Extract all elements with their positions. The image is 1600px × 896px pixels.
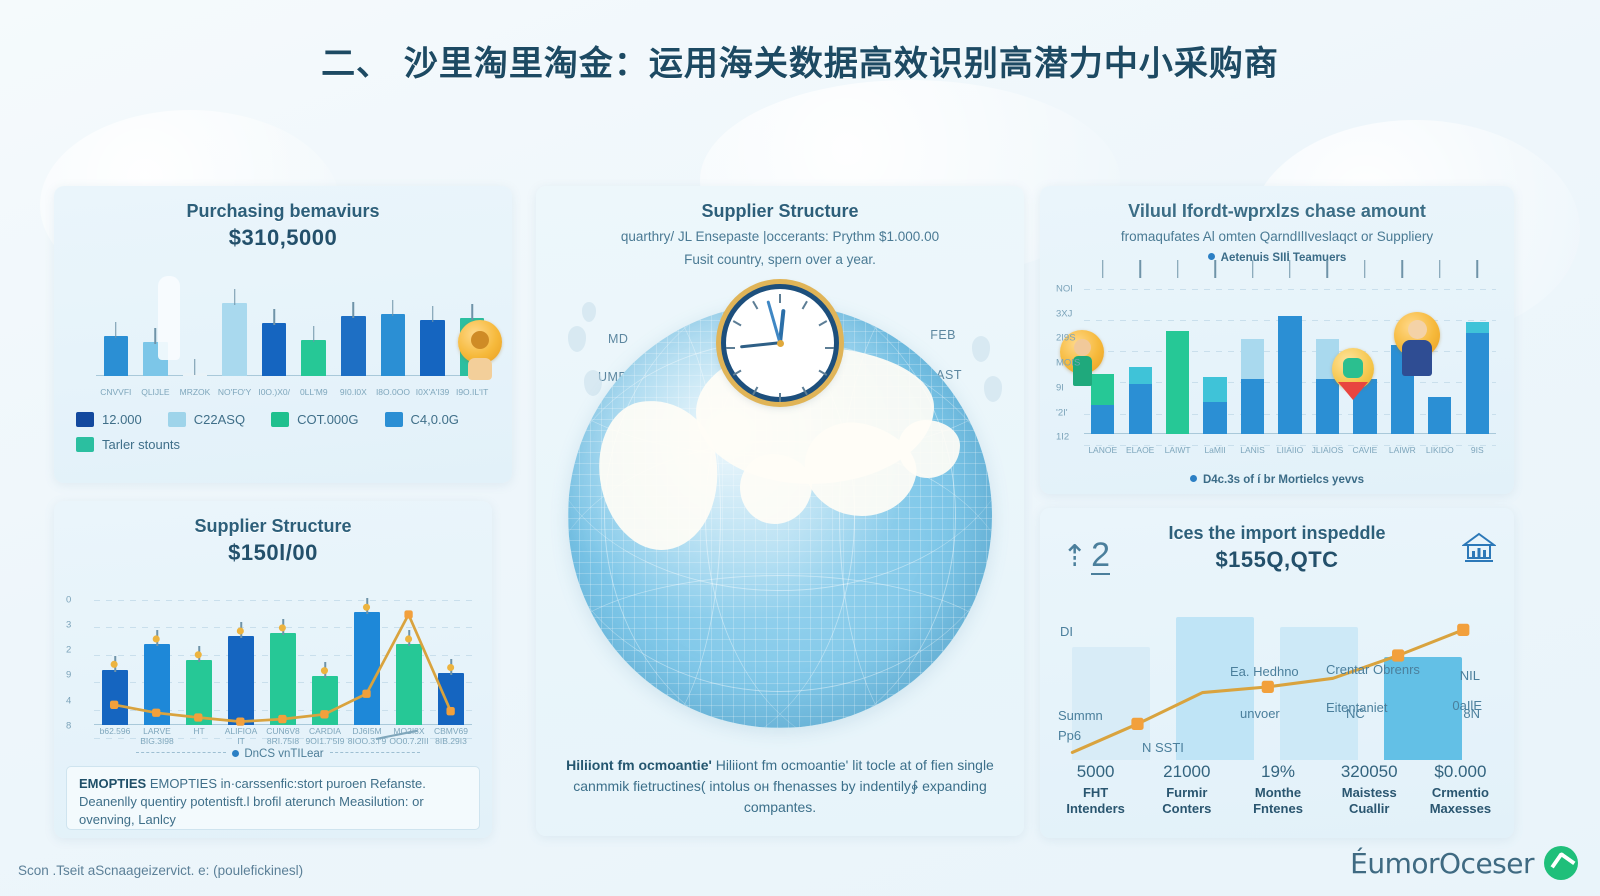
clock-tick: [726, 347, 735, 349]
chart-x-note: DnCS vnTILear: [80, 748, 476, 760]
label-crentar: Crentar Obrenrs: [1326, 662, 1420, 678]
x-tick-label: LAIWT: [1159, 446, 1196, 456]
chart-bar-column: [254, 280, 294, 376]
error-bar: [240, 622, 242, 638]
y-tick-label: 4: [66, 695, 71, 706]
y-tick-label: 8: [66, 720, 71, 731]
legend-item: Tarler stounts: [76, 437, 180, 452]
chart-bar: [420, 320, 445, 376]
clock-tick: [825, 347, 834, 349]
chart-bar-column: [304, 589, 346, 725]
y-tick-label: 3XJ: [1056, 308, 1072, 319]
callout-lead: EMOPTIES: [79, 776, 146, 791]
chart-stacked-bar: [1166, 276, 1189, 434]
x-tick-label: I0O.)X0/: [254, 388, 294, 398]
x-tick-label: I9O.IL'IT: [452, 388, 492, 398]
chart-stacked-bar: [1466, 276, 1489, 434]
kpi-value: 320050: [1324, 762, 1415, 782]
clock-tick: [818, 320, 827, 326]
x-tick-label: LANIS: [1234, 446, 1271, 456]
chart-bar: [186, 660, 212, 725]
chart-bar-column: [1196, 276, 1233, 434]
brand-wordmark: ÉumorOceser: [1350, 847, 1534, 880]
label-nil: NIL: [1460, 668, 1480, 684]
chart-bar: [222, 303, 247, 376]
legend-item: C4,0.0G: [385, 412, 459, 427]
kpi-stat: 320050MaistessCuallir: [1324, 762, 1415, 832]
legend-swatch: [76, 412, 94, 427]
panel-purchasing-behaviours[interactable]: Purchasing bemaviurs $310,5000 CNVVFIQLI…: [54, 186, 512, 483]
panel-bl-amount: $150l/00: [54, 540, 492, 566]
chart-bar-column: [413, 280, 453, 376]
legend-label: C22ASQ: [194, 412, 245, 427]
clock-tick: [802, 301, 808, 310]
legend-swatch: [271, 412, 289, 427]
clock-second-hand: [740, 342, 780, 349]
chart-bar-column: [175, 280, 215, 376]
chart-bar-segment: [1203, 377, 1226, 403]
chart-bar-segment: [1203, 402, 1226, 434]
panel-chase-amount[interactable]: Viluul Ifordt-wprxlzs chase amount froma…: [1040, 186, 1514, 494]
panel-tl-title: Purchasing bemaviurs: [54, 186, 512, 223]
coin-person-sticker: [456, 320, 504, 386]
chart-legend-bottom: D4c.3s of í br Mortielcs yevvs: [1040, 474, 1514, 486]
legend-item: COT.000G: [271, 412, 358, 427]
kpi-value: 5000: [1050, 762, 1141, 782]
page-title: 二、 沙里淘里淘金：运用海关数据高效识别高潜力中小采购商: [0, 36, 1600, 85]
chart-legend-top: Aetenuis SIIÍ Teamuers: [1040, 252, 1514, 264]
caption-lead: Hiliiont fm ocmoantie': [566, 757, 712, 773]
y-tick-label: 9: [66, 670, 71, 681]
chart-bar-column: [94, 589, 136, 725]
kpi-value: $0.000: [1415, 762, 1506, 782]
error-bar: [324, 662, 326, 678]
panel-tr-title: Viluul Ifordt-wprxlzs chase amount: [1040, 186, 1514, 223]
kpi-label: FurmirConters: [1141, 785, 1232, 817]
legend-swatch: [385, 412, 403, 427]
x-tick-label: 0LL'M9: [294, 388, 334, 398]
panel-bl-title: Supplier Structure: [54, 501, 492, 538]
error-bar: [450, 659, 452, 675]
label-summn: Summn: [1058, 708, 1103, 724]
panel-center-title: Supplier Structure: [536, 186, 1024, 223]
clock-tick: [802, 386, 808, 395]
legend-label: C4,0.0G: [411, 412, 459, 427]
kpi-label: CrmentioMaxesses: [1415, 785, 1506, 817]
chart-bars: [96, 280, 492, 376]
chart-bar-column: [388, 589, 430, 725]
chart-stacked-bar: [1241, 276, 1264, 434]
chart-bar: [104, 336, 129, 376]
kpi-stat: 21000FurmirConters: [1141, 762, 1232, 832]
brand-logo: ÉumorOceser: [1350, 846, 1578, 880]
legend-swatch: [168, 412, 186, 427]
label-di: DI: [1060, 624, 1073, 640]
arrow-up-icon: ⇡: [1062, 542, 1087, 572]
clock-tick: [733, 320, 742, 326]
chart-bar-column: [178, 589, 220, 725]
clock-tick: [779, 294, 781, 303]
y-tick-label: '2I': [1056, 407, 1068, 418]
y-tick-label: 9I: [1056, 382, 1064, 393]
error-bar: [353, 302, 355, 318]
chart-inline-labels: DI Summn Pp6 N SSTI Ea. Hedhno unvoer Cr…: [1054, 594, 1502, 760]
error-bar: [313, 326, 315, 342]
chart-bar-segment: [1091, 405, 1114, 434]
x-tick-label: b62.596: [94, 727, 136, 747]
chart-bar: [341, 316, 366, 376]
x-tick-label: CUN6V8 8RI.75I8: [262, 727, 304, 747]
x-tick-label: LaMII: [1196, 446, 1233, 456]
error-bar: [114, 656, 116, 672]
chart-bar: [354, 612, 380, 725]
x-tick-label: CBMV69 8IB.29I3: [430, 727, 472, 747]
x-tick-label: LAIWR: [1384, 446, 1421, 456]
x-tick-label: ELAOE: [1121, 446, 1158, 456]
panel-center-subtitle-1: quarthry/ JL Ensepaste |occerants: Pryth…: [536, 223, 1024, 247]
y-tick-label: 2I9S: [1056, 333, 1076, 344]
chart-bar-column: [1271, 276, 1308, 434]
label-unvoer: unvoer: [1240, 706, 1280, 722]
chart-bar-column: [1234, 276, 1271, 434]
label-ea-hedhno: Ea. Hedhno: [1230, 664, 1299, 680]
error-bar: [1289, 260, 1291, 278]
error-bar: [194, 359, 196, 375]
x-tick-label: JLIAIOS: [1309, 446, 1346, 456]
y-tick-label: NOI: [1056, 284, 1073, 295]
chart-bar-column: [294, 280, 334, 376]
chart-bar-column: [430, 589, 472, 725]
legend-label: 12.000: [102, 412, 142, 427]
error-bar: [1327, 260, 1329, 278]
panel-tr-subtitle: fromaqufates Al omten QarndIlIveslaqct o…: [1040, 223, 1514, 247]
label-nc: NC: [1346, 706, 1365, 722]
kpi-stat: $0.000CrmentioMaxesses: [1415, 762, 1506, 832]
panel-board: Purchasing bemaviurs $310,5000 CNVVFIQLI…: [54, 186, 1514, 838]
chart-supplier-structure: b62.596LARVE BIG.3I98HTALIFIOA ITCUN6V8 …: [64, 583, 480, 751]
chart-bar: [102, 670, 128, 725]
error-bar: [1177, 260, 1179, 278]
growth-indicator: ⇡ 2: [1062, 538, 1110, 575]
coin-person-sticker: [1392, 312, 1442, 384]
x-tick-label: MO2I8X OO0.7.2III: [388, 727, 430, 747]
error-bar: [198, 646, 200, 662]
error-bar: [156, 630, 158, 646]
chart-bar-column: [346, 589, 388, 725]
chart-bar: [396, 644, 422, 725]
x-tick-label: CARDIA 9OI1.7'5I9: [304, 727, 346, 747]
legend-swatch: [76, 437, 94, 452]
error-bar: [1477, 260, 1479, 278]
footer-source-note: Scon .Tseit aScnaageizervict. e: (poulef…: [18, 863, 303, 878]
x-tick-label: DJ6I5M 8IOO.3.I'9: [346, 727, 388, 747]
y-tick-label: 1I2: [1056, 432, 1069, 443]
chart-chase-amount: LANOEELAOELAIWTLaMIILANISLIIAIIOJLIAIOSC…: [1054, 270, 1504, 460]
error-bar: [1439, 260, 1441, 278]
chart-bar-column: [262, 589, 304, 725]
chart-bar: [381, 314, 406, 376]
kpi-stat: 5000FHTIntenders: [1050, 762, 1141, 832]
error-bar: [471, 304, 473, 320]
ghost-figurine-sticker: [158, 276, 180, 360]
kpi-value: 21000: [1141, 762, 1232, 782]
y-tick-label: 2: [66, 645, 71, 656]
chart-bar-segment: [1466, 322, 1489, 333]
legend-label: COT.000G: [297, 412, 358, 427]
panel-center-caption: Hiliiont fm ocmoantie' Hiliiont fm ocmoa…: [562, 755, 998, 818]
chart-import-speed: DI Summn Pp6 N SSTI Ea. Hedhno unvoer Cr…: [1054, 594, 1502, 760]
error-bar: [273, 309, 275, 325]
x-tick-label: I8O.0OO: [373, 388, 413, 398]
chart-bar-column: [1121, 276, 1158, 434]
clock-tick: [752, 301, 758, 310]
legend-dot-icon: [232, 750, 239, 757]
x-tick-label: I0X'A'I39: [413, 388, 453, 398]
chart-purchasing-behaviours: CNVVFIQLIJLEMRZOKNO'FO'YI0O.)X0/0LL'M99I…: [66, 274, 500, 402]
chart-bar-column: [136, 589, 178, 725]
chart-stacked-bar: [1278, 276, 1301, 434]
legend-dot-icon: [1208, 253, 1215, 260]
y-tick-label: 0: [66, 594, 71, 605]
panel-tl-amount: $310,5000: [54, 225, 512, 251]
kpi-label: FHTIntenders: [1050, 785, 1141, 817]
error-bar: [1364, 260, 1366, 278]
panel-center-subtitle-2: Fusit country, spern over a year.: [536, 246, 1024, 270]
error-bar: [115, 322, 117, 338]
chart-bar-segment: [1129, 384, 1152, 434]
chart-bar-segment: [1278, 316, 1301, 434]
x-tick-label: LANOE: [1084, 446, 1121, 456]
chart-bar-column: [215, 280, 255, 376]
chart-bar-column: [1459, 276, 1496, 434]
error-bar: [366, 598, 368, 614]
error-bar: [1139, 260, 1141, 278]
panel-supplier-structure-bars[interactable]: Supplier Structure $150l/00 b62.596LARVE…: [54, 501, 492, 838]
chart-bar-segment: [1166, 331, 1189, 434]
chart-bar-column: [334, 280, 374, 376]
chart-bar-column: [96, 280, 136, 376]
chart-stacked-bar: [1129, 276, 1152, 434]
label-pp6: Pp6: [1058, 728, 1081, 744]
house-chart-icon: [1462, 532, 1496, 562]
chart-bar-column: [220, 589, 262, 725]
label-8n: 8N: [1463, 706, 1480, 722]
chart-x-tick-labels: CNVVFIQLIJLEMRZOKNO'FO'YI0O.)X0/0LL'M99I…: [96, 388, 492, 398]
legend-item: C22ASQ: [168, 412, 245, 427]
chart-bar-segment: [1428, 397, 1451, 434]
clock-tick: [779, 393, 781, 402]
chart-bar-column: [1159, 276, 1196, 434]
kpi-label: MontheFntenes: [1232, 785, 1323, 817]
kpi-stat-row: 5000FHTIntenders21000FurmirConters19%Mon…: [1050, 762, 1506, 832]
y-tick-label: MOIS: [1056, 358, 1080, 369]
chart-x-tick-labels: LANOEELAOELAIWTLaMIILANISLIIAIIOJLIAIOSC…: [1084, 446, 1496, 456]
brand-mark-icon: [1544, 846, 1578, 880]
chart-bar-segment: [1241, 379, 1264, 434]
shield-badge-sticker: [1332, 348, 1376, 406]
chart-bar-segment: [1129, 367, 1152, 384]
growth-number: 2: [1091, 538, 1110, 575]
chart-bar: [262, 323, 287, 376]
error-bar: [282, 619, 284, 635]
clock-tick: [733, 370, 742, 376]
error-bar: [1402, 260, 1404, 278]
chart-x-tick-labels: b62.596LARVE BIG.3I98HTALIFIOA ITCUN6V8 …: [94, 727, 472, 747]
x-tick-label: LIKIDO: [1421, 446, 1458, 456]
y-tick-label: 3: [66, 620, 71, 631]
kpi-label: MaistessCuallir: [1324, 785, 1415, 817]
x-tick-label: LIIAIIO: [1271, 446, 1308, 456]
legend-dot-icon: [1190, 475, 1197, 482]
chart-bar: [301, 340, 326, 376]
x-tick-label: 9IS: [1459, 446, 1496, 456]
chart-bar: [270, 633, 296, 725]
chart-stacked-bar: [1203, 276, 1226, 434]
chart-bar: [228, 636, 254, 725]
kpi-stat: 19%MontheFntenes: [1232, 762, 1323, 832]
chart-bar-column: [373, 280, 413, 376]
clock-tick: [752, 386, 758, 395]
error-bar: [1214, 260, 1216, 278]
legend-item: 12.000: [76, 412, 142, 427]
error-bar: [155, 328, 157, 344]
x-tick-label: 9I0.I0X: [334, 388, 374, 398]
globe-visualization: MD UMPS FEB CAST: [536, 296, 1024, 726]
chart-bar: [438, 673, 464, 725]
chart-bars: [94, 589, 472, 725]
x-tick-label: NO'FO'Y: [215, 388, 255, 398]
label-n-ssti: N SSTI: [1142, 740, 1184, 756]
x-tick-label: HT: [178, 727, 220, 747]
chart-bar-segment: [1466, 333, 1489, 434]
chart-bar: [312, 676, 338, 725]
x-tick-label: CNVVFI: [96, 388, 136, 398]
chart-bar: [144, 644, 170, 725]
clock-center-pin: [777, 340, 784, 347]
error-bar: [408, 630, 410, 646]
x-tick-label: LARVE BIG.3I98: [136, 727, 178, 747]
error-bar: [392, 300, 394, 316]
x-tick-label: CAVIE: [1346, 446, 1383, 456]
x-tick-label: ALIFIOA IT: [220, 727, 262, 747]
analog-clock-icon: [721, 284, 839, 402]
error-bar: [234, 289, 236, 305]
kpi-value: 19%: [1232, 762, 1323, 782]
error-bar: [1252, 260, 1254, 278]
x-tick-label: QLIJLE: [136, 388, 176, 398]
error-bar: [432, 306, 434, 322]
panel-global-supplier-map[interactable]: Supplier Structure quarthry/ JL Ensepast…: [536, 186, 1024, 836]
panel-br-title: Ices the import inspeddle: [1040, 508, 1514, 545]
legend-label: Tarler stounts: [102, 437, 180, 452]
x-tick-label: MRZOK: [175, 388, 215, 398]
chart-bar-segment: [1241, 339, 1264, 379]
chart-bar: [183, 373, 208, 376]
error-bar: [1102, 260, 1104, 278]
insight-callout: EMOPTIES EMOPTIES in·carssenfic:stort pu…: [66, 766, 480, 830]
chart-legend: 12.000C22ASQCOT.000GC4,0.0GTarler stount…: [76, 412, 498, 452]
clock-tick: [818, 370, 827, 376]
panel-import-speed[interactable]: Ices the import inspeddle $155Q,QTC ⇡ 2 …: [1040, 508, 1514, 838]
panel-br-amount: $155Q,QTC: [1040, 547, 1514, 573]
